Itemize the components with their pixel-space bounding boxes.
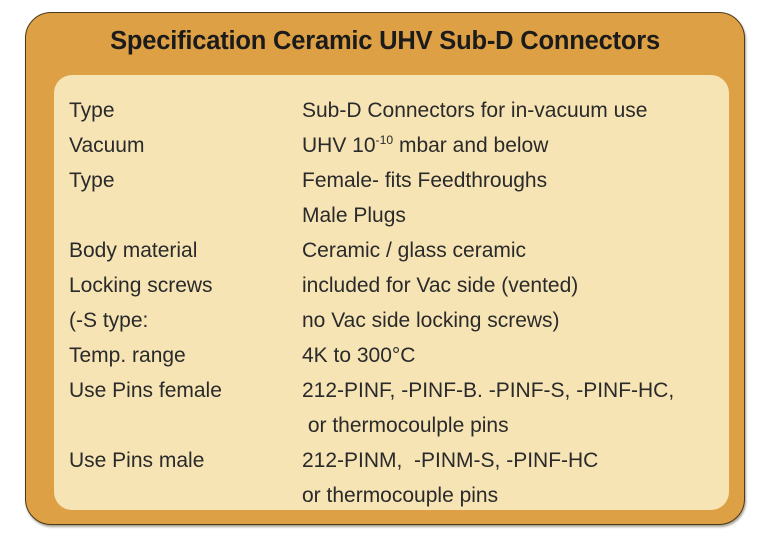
specification-panel: Specification Ceramic UHV Sub-D Connecto… [25,12,745,525]
table-row: TypeSub-D Connectors for in-vacuum use [54,93,729,128]
exponent: -10 [376,133,394,147]
spec-label: Use Pins male [69,443,204,478]
table-row: (-S type:no Vac side locking screws) [54,303,729,338]
table-row: or thermocoulple pins [54,408,729,443]
table-row: or thermocouple pins [54,478,729,513]
table-row: TypeFemale- fits Feedthroughs [54,163,729,198]
table-row: VacuumUHV 10-10 mbar and below [54,128,729,163]
spec-value: 4K to 300°C [302,338,415,373]
spec-value: 212-PINF, -PINF-B. -PINF-S, -PINF-HC, [302,373,674,408]
spec-label: Type [69,93,115,128]
spec-value: 212-PINM, -PINM-S, -PINF-HC [302,443,598,478]
spec-label: Locking screws [69,268,213,303]
spec-value: or thermocouple pins [302,478,498,513]
spec-value: Sub-D Connectors for in-vacuum use [302,93,648,128]
table-row: Use Pins male212-PINM, -PINM-S, -PINF-HC [54,443,729,478]
spec-value: no Vac side locking screws) [302,303,560,338]
specification-table: TypeSub-D Connectors for in-vacuum useVa… [54,75,729,510]
spec-label: (-S type: [69,303,148,338]
table-row: Temp. range4K to 300°C [54,338,729,373]
spec-label: Temp. range [69,338,186,373]
spec-value: Female- fits Feedthroughs [302,163,547,198]
spec-value: Ceramic / glass ceramic [302,233,526,268]
spec-value: or thermocoulple pins [302,408,509,443]
spec-label: Use Pins female [69,373,222,408]
table-row: Male Plugs [54,198,729,233]
spec-value: included for Vac side (vented) [302,268,578,303]
table-row: Locking screwsincluded for Vac side (ven… [54,268,729,303]
table-row: Use Pins female212-PINF, -PINF-B. -PINF-… [54,373,729,408]
spec-label: Type [69,163,115,198]
spec-label: Body material [69,233,197,268]
spec-label: Vacuum [69,128,144,163]
page-title: Specification Ceramic UHV Sub-D Connecto… [26,27,744,56]
table-row: Body materialCeramic / glass ceramic [54,233,729,268]
spec-value: UHV 10-10 mbar and below [302,128,548,163]
spec-value: Male Plugs [302,198,406,233]
